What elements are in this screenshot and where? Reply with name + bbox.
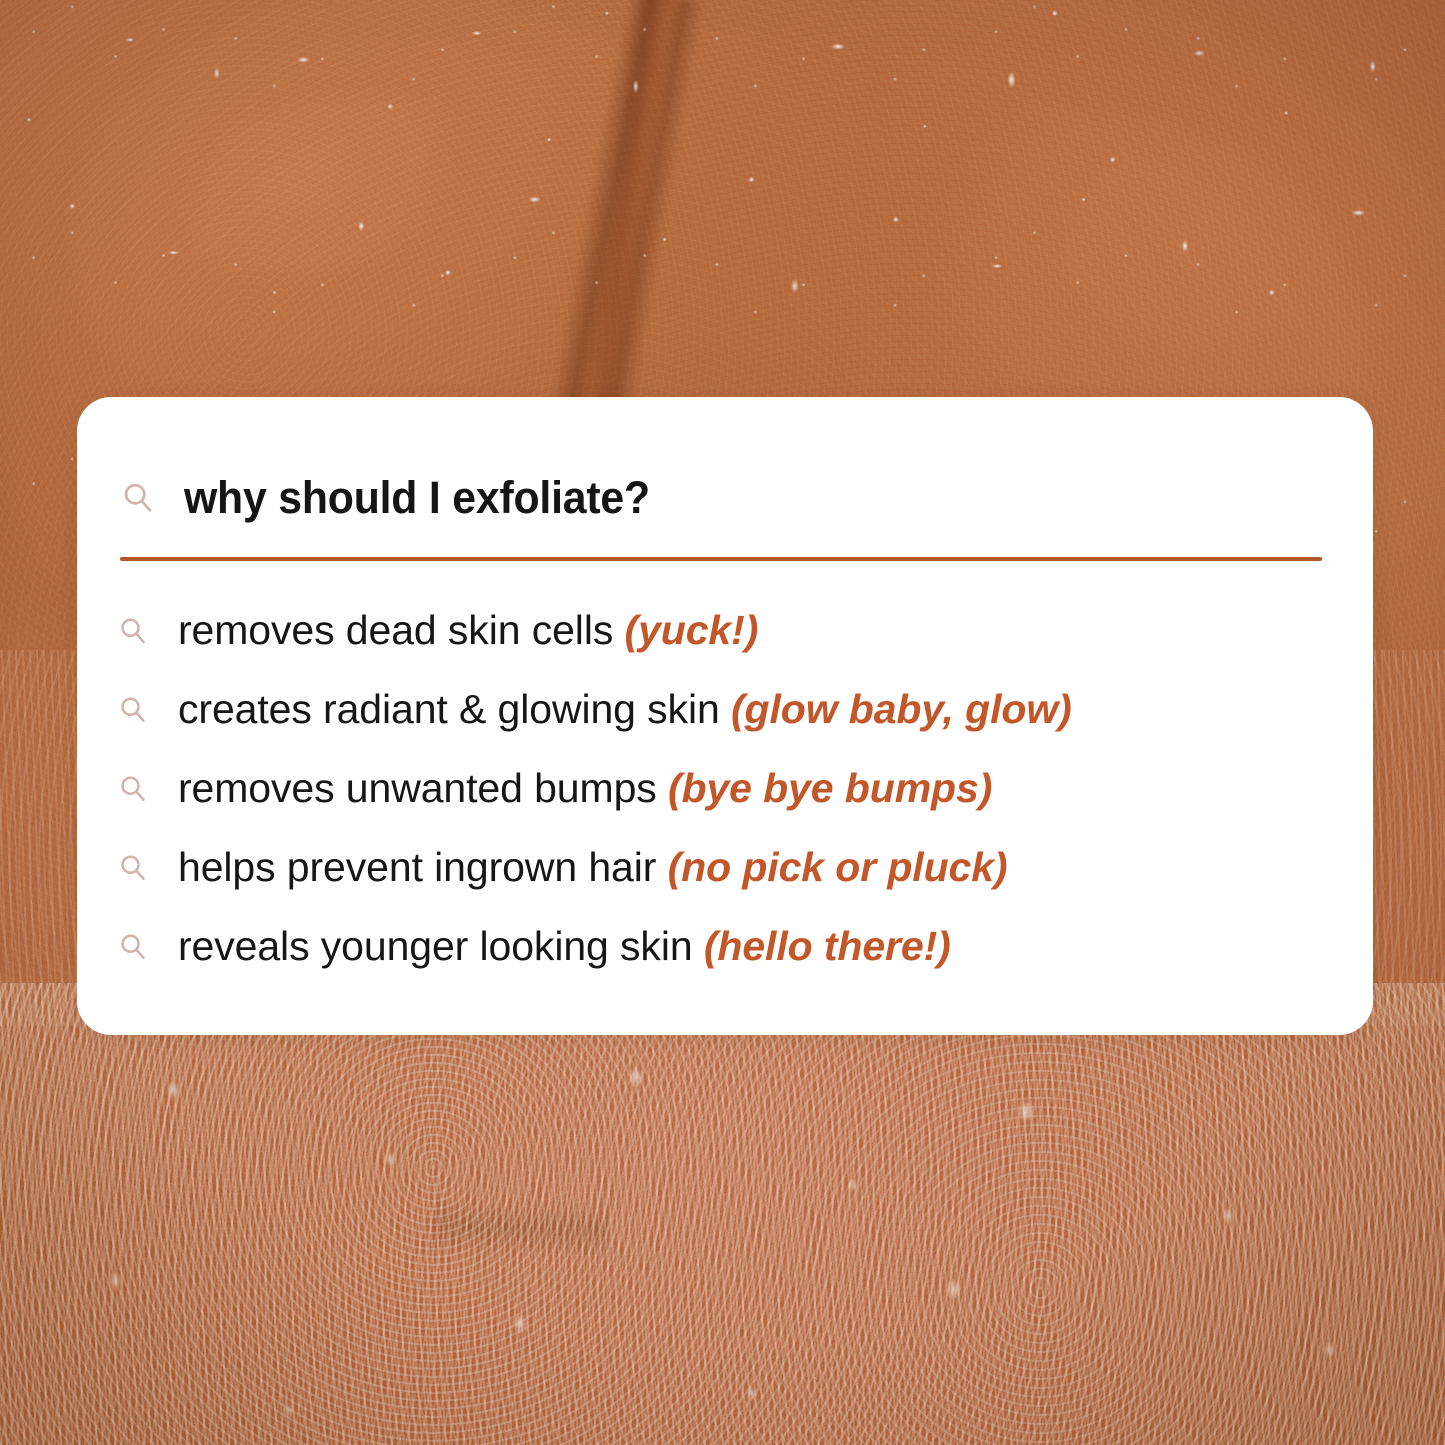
benefit-aside: (glow baby, glow) xyxy=(731,686,1072,732)
search-icon xyxy=(118,774,148,804)
list-item-text: removes dead skin cells (yuck!) xyxy=(178,609,758,652)
list-item: removes dead skin cells (yuck!) xyxy=(118,591,1348,670)
product-graphic: why should I exfoliate? removes dead ski… xyxy=(0,0,1445,1445)
list-item: helps prevent ingrown hair (no pick or p… xyxy=(118,828,1348,907)
card-header: why should I exfoliate? xyxy=(121,475,674,520)
list-item: removes unwanted bumps (bye bye bumps) xyxy=(118,749,1348,828)
list-item-text: removes unwanted bumps (bye bye bumps) xyxy=(178,767,992,810)
search-icon xyxy=(118,695,148,725)
benefits-list: removes dead skin cells (yuck!) creates … xyxy=(118,591,1348,986)
list-item-text: helps prevent ingrown hair (no pick or p… xyxy=(178,846,1008,889)
list-item: reveals younger looking skin (hello ther… xyxy=(118,907,1348,986)
benefit-label: removes unwanted bumps xyxy=(178,765,668,811)
search-icon xyxy=(118,616,148,646)
benefit-label: reveals younger looking skin xyxy=(178,923,704,969)
info-card: why should I exfoliate? removes dead ski… xyxy=(77,397,1373,1035)
benefit-aside: (hello there!) xyxy=(704,923,951,969)
header-divider xyxy=(120,557,1322,561)
benefit-aside: (no pick or pluck) xyxy=(668,844,1008,890)
benefit-aside: (bye bye bumps) xyxy=(668,765,992,811)
benefit-label: removes dead skin cells xyxy=(178,607,625,653)
search-icon xyxy=(118,932,148,962)
list-item-text: reveals younger looking skin (hello ther… xyxy=(178,925,951,968)
benefit-label: creates radiant & glowing skin xyxy=(178,686,731,732)
search-icon xyxy=(121,481,155,515)
list-item-text: creates radiant & glowing skin (glow bab… xyxy=(178,688,1072,731)
benefit-aside: (yuck!) xyxy=(625,607,759,653)
search-icon xyxy=(118,853,148,883)
page-title: why should I exfoliate? xyxy=(184,475,650,520)
list-item: creates radiant & glowing skin (glow bab… xyxy=(118,670,1348,749)
benefit-label: helps prevent ingrown hair xyxy=(178,844,668,890)
